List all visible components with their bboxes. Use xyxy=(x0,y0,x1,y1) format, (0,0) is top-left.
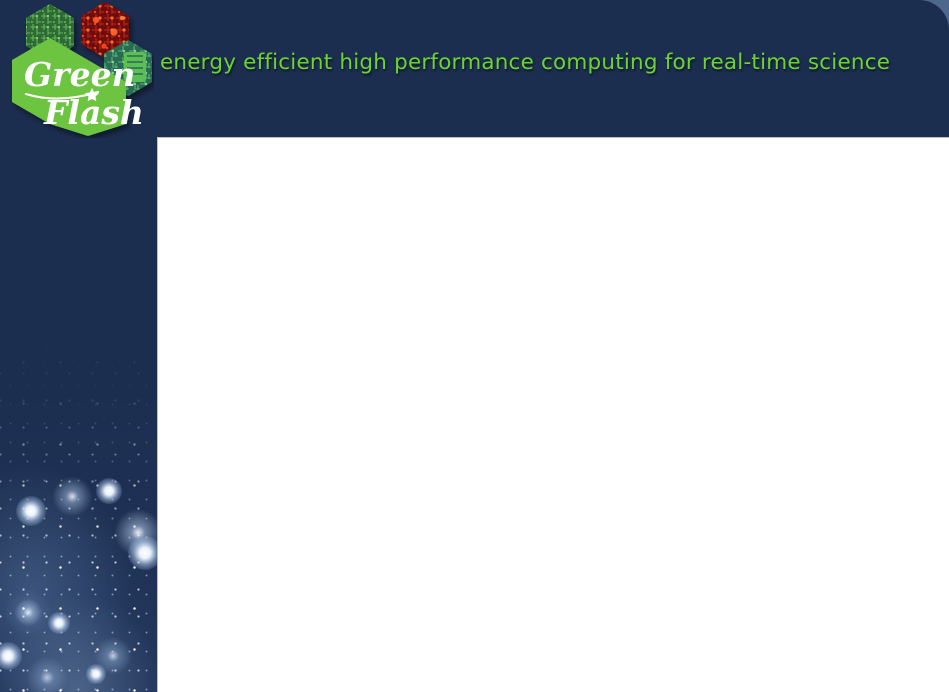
star-bright-4 xyxy=(48,612,70,634)
green-flash-logo[interactable]: Green Flash xyxy=(8,2,154,138)
page-body xyxy=(158,138,949,692)
star-bright-1 xyxy=(16,496,46,526)
starfield-nebula-image xyxy=(0,330,157,692)
star-bright-6 xyxy=(86,664,106,684)
app-root: Green Flash energy efficient high perfor… xyxy=(0,0,949,692)
star-bright-2 xyxy=(96,478,122,504)
logo-word-green: Green xyxy=(24,55,136,94)
star-bright-3 xyxy=(128,536,157,570)
header-tagline: energy efficient high performance comput… xyxy=(160,50,920,75)
